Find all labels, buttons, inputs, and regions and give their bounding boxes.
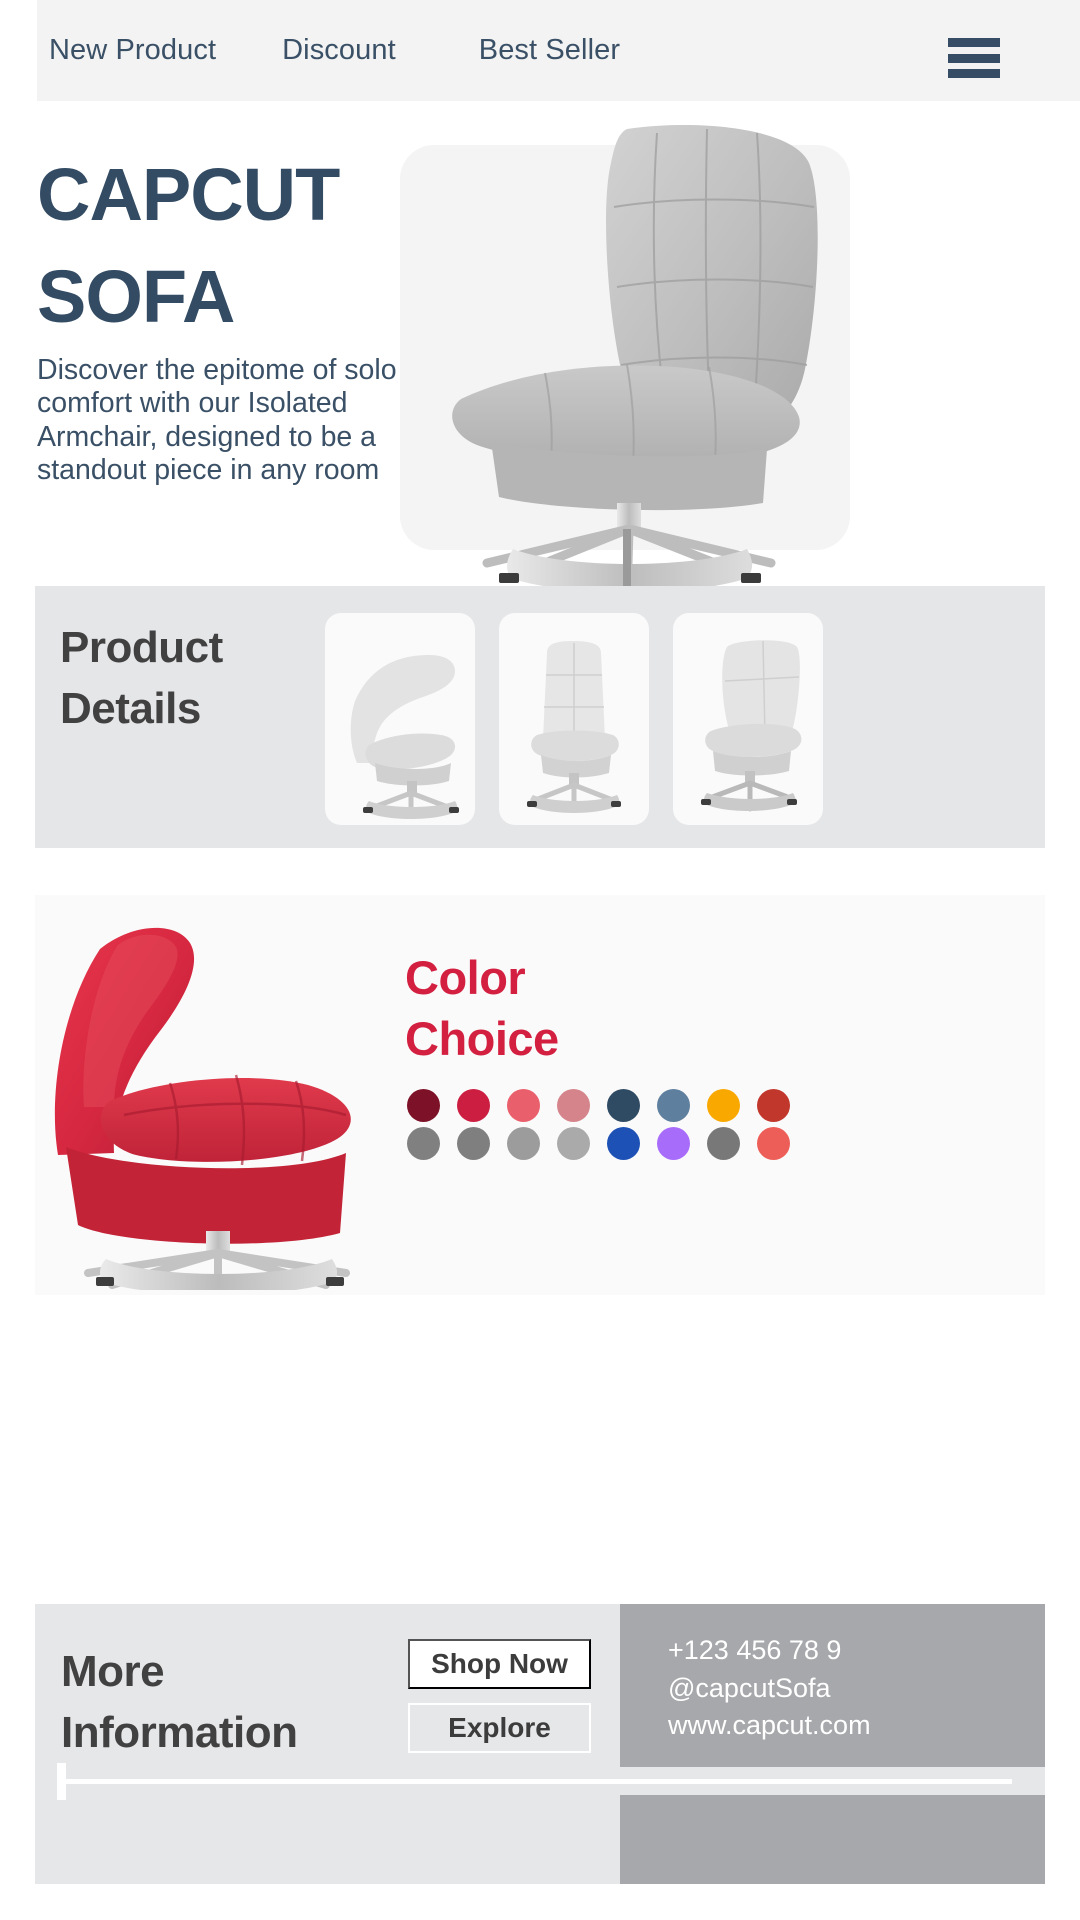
color-swatch-gray-light[interactable] (507, 1127, 540, 1160)
color-swatch-dark-maroon[interactable] (407, 1089, 440, 1122)
shop-now-button[interactable]: Shop Now (408, 1639, 591, 1689)
color-swatch-grid (407, 1089, 807, 1165)
top-navbar: New Product Discount Best Seller (37, 0, 1080, 101)
nav-link-new-product[interactable]: New Product (49, 34, 216, 67)
product-thumbnail-list (325, 613, 823, 825)
product-thumbnail-back-view[interactable] (673, 613, 823, 825)
color-swatch-gray-medium[interactable] (457, 1127, 490, 1160)
color-swatch-dusty-rose[interactable] (557, 1089, 590, 1122)
explore-button[interactable]: Explore (408, 1703, 591, 1753)
color-swatch-gray-lighter[interactable] (557, 1127, 590, 1160)
color-swatch-coral[interactable] (757, 1127, 790, 1160)
hero-description: Discover the epitome of solo comfort wit… (37, 354, 412, 487)
poster-page: New Product Discount Best Seller CAPCUT … (0, 0, 1080, 1920)
product-thumbnail-side-view[interactable] (325, 613, 475, 825)
color-swatch-gray-neutral[interactable] (707, 1127, 740, 1160)
contact-website[interactable]: www.capcut.com (668, 1707, 1045, 1745)
hamburger-bar (948, 69, 1000, 78)
hero-chair-image (395, 111, 855, 546)
product-details-title: Product Details (60, 618, 320, 739)
red-chair-image (40, 915, 410, 1290)
color-swatch-violet[interactable] (657, 1127, 690, 1160)
hamburger-menu-icon[interactable] (948, 38, 1000, 78)
nav-links: New Product Discount Best Seller (49, 34, 620, 67)
product-thumbnail-front-view[interactable] (499, 613, 649, 825)
footer-divider (57, 1779, 1012, 1784)
more-information-section: More Information Shop Now Explore +123 4… (35, 1604, 1045, 1884)
more-information-title: More Information (61, 1642, 391, 1763)
contact-panel: +123 456 78 9 @capcutSofa www.capcut.com (620, 1604, 1045, 1767)
armchair-back-icon (673, 613, 823, 825)
page-title: CAPCUT SOFA (37, 144, 457, 348)
armchair-side-icon (325, 613, 475, 825)
contact-social-handle[interactable]: @capcutSofa (668, 1670, 1045, 1708)
hamburger-bar (948, 54, 1000, 63)
contact-phone[interactable]: +123 456 78 9 (668, 1632, 1045, 1670)
product-details-section: Product Details (35, 586, 1045, 848)
color-swatch-gray-dark[interactable] (407, 1127, 440, 1160)
color-swatch-amber[interactable] (707, 1089, 740, 1122)
armchair-front-icon (499, 613, 649, 825)
color-swatch-navy[interactable] (607, 1089, 640, 1122)
color-swatch-steel-blue[interactable] (657, 1089, 690, 1122)
color-choice-title: Color Choice (405, 947, 685, 1069)
contact-panel-extension (620, 1795, 1045, 1884)
nav-link-discount[interactable]: Discount (282, 34, 396, 67)
hero-section: CAPCUT SOFA Discover the epitome of solo… (0, 101, 1080, 586)
hamburger-bar (948, 38, 1000, 47)
nav-link-best-seller[interactable]: Best Seller (479, 34, 620, 67)
color-choice-section: Color Choice (35, 895, 1045, 1295)
color-swatch-brick-red[interactable] (757, 1089, 790, 1122)
color-swatch-crimson[interactable] (457, 1089, 490, 1122)
color-swatch-royal-blue[interactable] (607, 1127, 640, 1160)
color-swatch-salmon-red[interactable] (507, 1089, 540, 1122)
